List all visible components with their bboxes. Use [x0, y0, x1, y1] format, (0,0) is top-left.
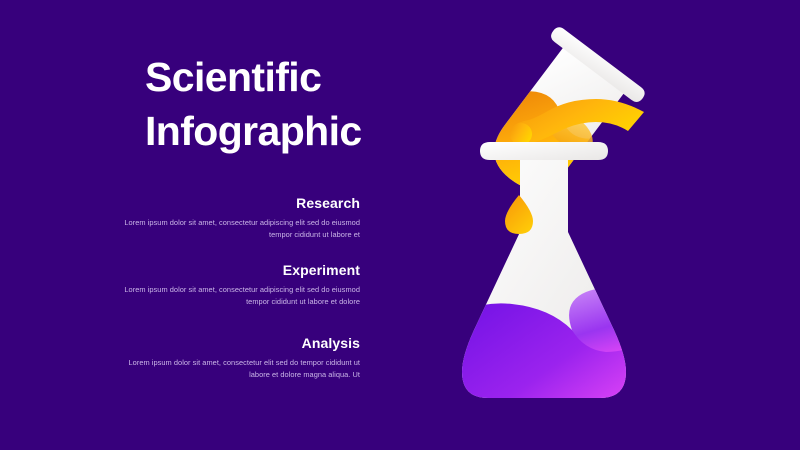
section-analysis-heading: Analysis [118, 336, 360, 351]
section-experiment-body: Lorem ipsum dolor sit amet, consectetur … [118, 284, 360, 308]
section-research-heading: Research [118, 196, 360, 211]
infographic-slide: Scientific Infographic Research Lorem ip… [0, 0, 800, 450]
section-analysis-body: Lorem ipsum dolor sit amet, consectetur … [118, 357, 360, 381]
flask-rim [480, 142, 608, 160]
flask-liquid-crest [569, 288, 658, 352]
section-experiment: Experiment Lorem ipsum dolor sit amet, c… [118, 263, 360, 308]
orange-pour-lip [510, 123, 532, 145]
section-analysis: Analysis Lorem ipsum dolor sit amet, con… [118, 336, 360, 381]
section-research: Research Lorem ipsum dolor sit amet, con… [118, 196, 360, 241]
text-column: Scientific Infographic Research Lorem ip… [0, 0, 400, 450]
flask-purple-liquid [440, 303, 660, 412]
erlenmeyer-flask-icon [440, 142, 660, 412]
science-illustration [400, 0, 800, 450]
section-research-body: Lorem ipsum dolor sit amet, consectetur … [118, 217, 360, 241]
section-experiment-heading: Experiment [118, 263, 360, 278]
page-title: Scientific Infographic [145, 50, 395, 158]
